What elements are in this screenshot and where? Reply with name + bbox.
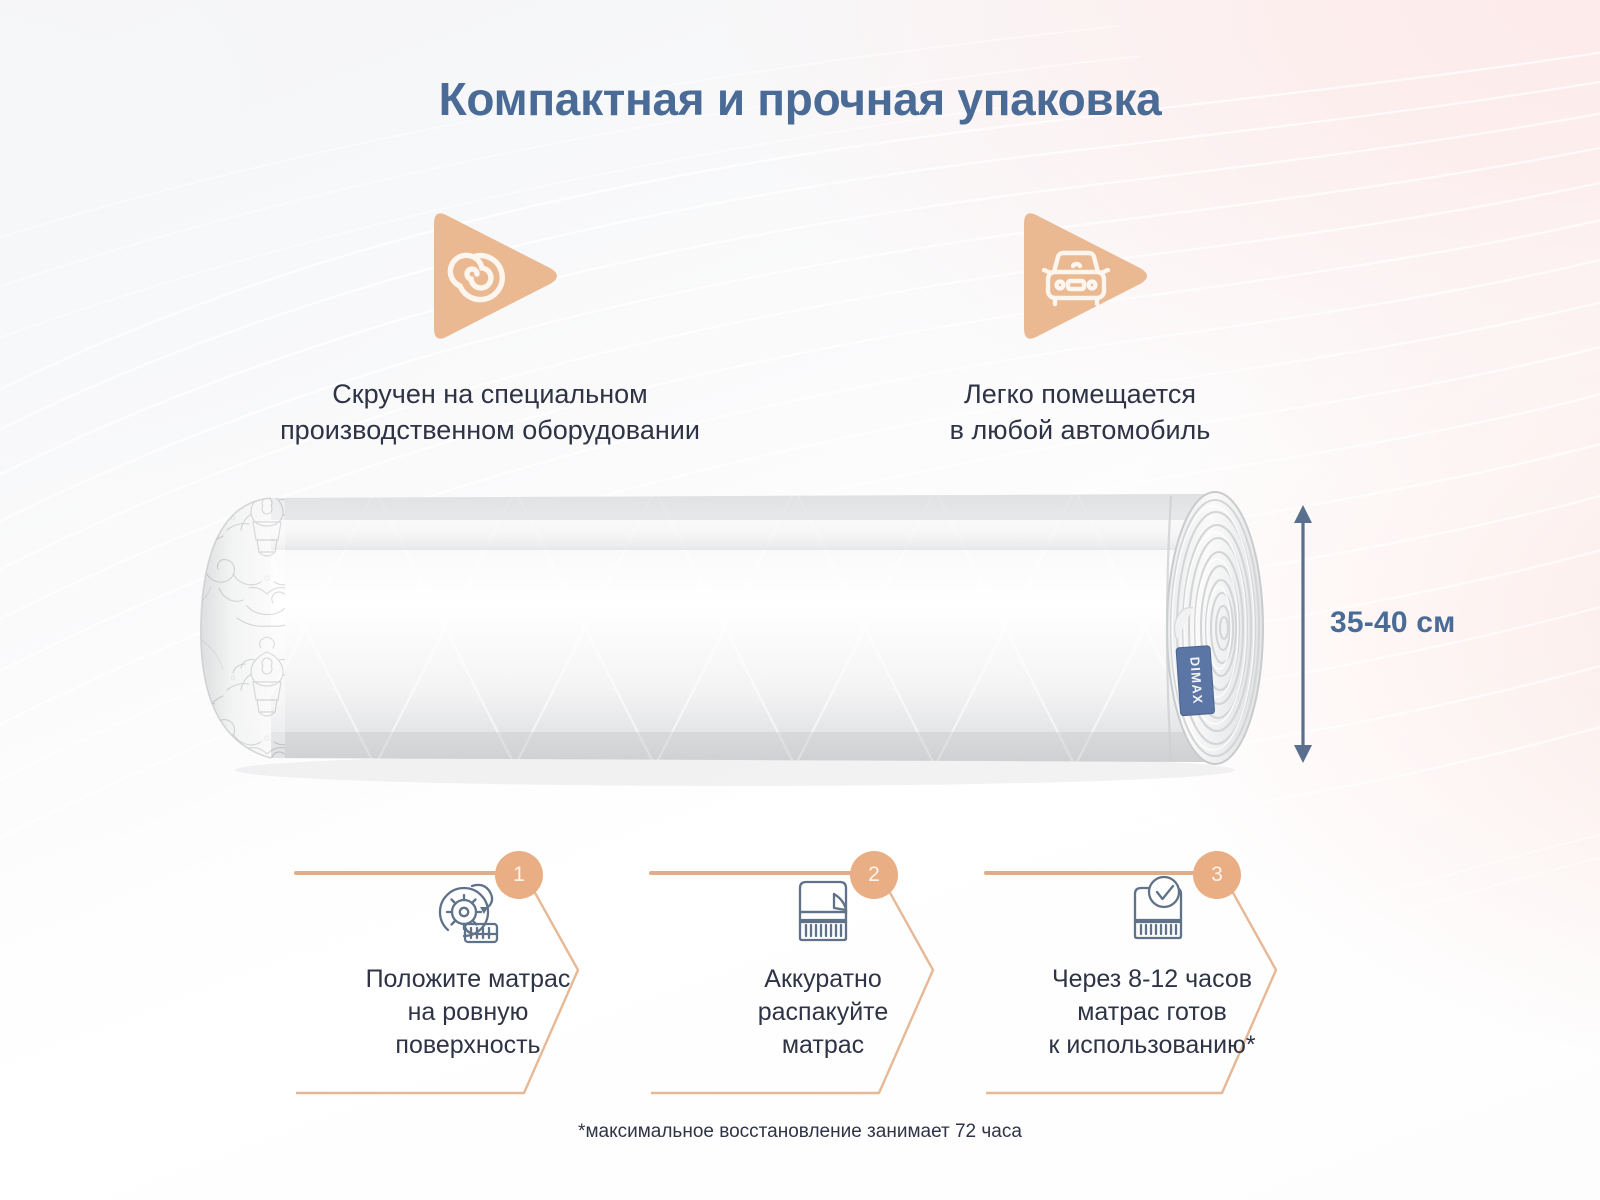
step-text: Через 8-12 часов матрас готов к использо…	[972, 963, 1332, 1062]
brand-tag: DIMAX	[1176, 646, 1215, 716]
dimension-label: 35-40 см	[1330, 606, 1456, 640]
step-text: Положите матрас на ровную поверхность	[288, 963, 648, 1062]
feature-label: Легко помещается в любой автомобиль	[815, 377, 1345, 449]
measuring-tape-roll-icon	[288, 869, 648, 953]
car-front-icon-badge	[815, 195, 1345, 355]
step-card-3[interactable]: 3 Через 8-12 часов матрас готов к исполь…	[978, 845, 1338, 1095]
page-title: Компактная и прочная упаковка	[0, 72, 1600, 126]
feature-rolled-on-equipment: Скручен на специальном производственном …	[205, 195, 775, 449]
mattress-roll-svg: DIMAX	[175, 470, 1285, 790]
footnote-text: *максимальное восстановление занимает 72…	[0, 1121, 1600, 1143]
feature-fits-any-car: Легко помещается в любой автомобиль	[815, 195, 1345, 449]
mattress-check-icon	[978, 869, 1338, 953]
spiral-roll-icon-badge	[205, 195, 775, 355]
feature-label: Скручен на специальном производственном …	[205, 377, 775, 449]
rolled-mattress-image: DIMAX	[175, 470, 1285, 790]
mattress-unpack-icon	[643, 869, 1003, 953]
car-front-icon	[1000, 200, 1160, 350]
step-text: Аккуратно распакуйте матрас	[643, 963, 1003, 1062]
steps-section: 1 Положите матрас на ровную поверхность	[288, 845, 1312, 1095]
step-card-1[interactable]: 1 Положите матрас на ровную поверхность	[288, 845, 648, 1095]
spiral-roll-icon	[410, 200, 570, 350]
step-card-2[interactable]: 2 Аккуратно распакуйте матрас	[643, 845, 1003, 1095]
